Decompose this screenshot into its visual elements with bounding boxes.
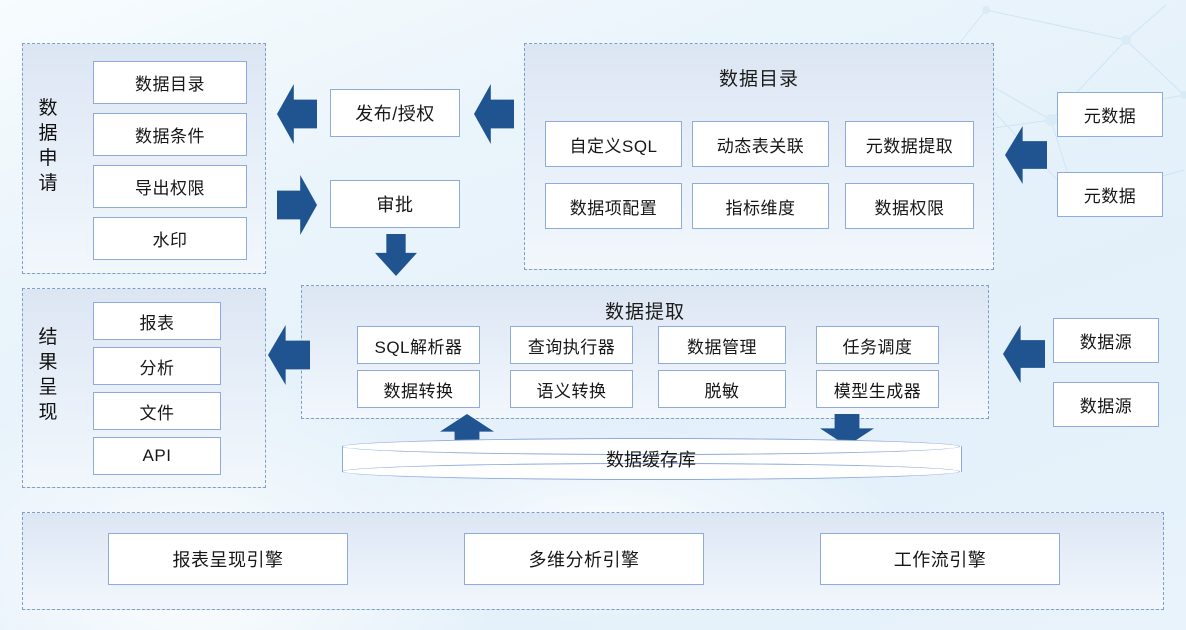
data-application-item-2[interactable]: 导出权限 bbox=[93, 165, 247, 208]
arrow-datasource-to-extraction bbox=[1003, 325, 1045, 383]
data-extraction-panel: 数据提取 SQL解析器 查询执行器 数据管理 任务调度 数据转换 语义转换 脱敏… bbox=[301, 285, 989, 419]
catalog-item-1[interactable]: 动态表关联 bbox=[692, 121, 829, 167]
data-application-item-1[interactable]: 数据条件 bbox=[93, 113, 247, 156]
catalog-item-4[interactable]: 指标维度 bbox=[692, 183, 829, 229]
arrow-catalog-to-publish bbox=[474, 84, 514, 144]
metadata-box-1[interactable]: 元数据 bbox=[1057, 172, 1163, 217]
result-presentation-caption: 结果呈现 bbox=[35, 325, 61, 425]
arrow-application-to-approve bbox=[277, 175, 317, 235]
extraction-item-7[interactable]: 模型生成器 bbox=[816, 370, 939, 408]
data-application-item-0[interactable]: 数据目录 bbox=[93, 61, 247, 104]
extraction-item-5[interactable]: 语义转换 bbox=[510, 370, 633, 408]
arrow-approve-to-extraction bbox=[375, 234, 417, 276]
result-item-2[interactable]: 文件 bbox=[93, 392, 221, 430]
catalog-item-2[interactable]: 元数据提取 bbox=[845, 121, 974, 167]
arrow-publish-to-application bbox=[277, 84, 317, 144]
extraction-item-2[interactable]: 数据管理 bbox=[658, 326, 786, 364]
result-item-1[interactable]: 分析 bbox=[93, 347, 221, 385]
publish-authorize-box[interactable]: 发布/授权 bbox=[330, 89, 460, 137]
data-catalog-title: 数据目录 bbox=[525, 64, 993, 91]
result-presentation-panel: 结果呈现 报表 分析 文件 API bbox=[22, 288, 266, 488]
datasource-box-1[interactable]: 数据源 bbox=[1053, 382, 1159, 427]
catalog-item-0[interactable]: 自定义SQL bbox=[545, 121, 682, 167]
engine-item-2[interactable]: 工作流引擎 bbox=[820, 533, 1060, 585]
engine-panel: 报表呈现引擎 多维分析引擎 工作流引擎 bbox=[22, 512, 1164, 610]
catalog-item-5[interactable]: 数据权限 bbox=[845, 183, 974, 229]
data-extraction-title: 数据提取 bbox=[302, 297, 988, 324]
data-cache-label: 数据缓存库 bbox=[606, 446, 696, 472]
extraction-item-4[interactable]: 数据转换 bbox=[357, 370, 480, 408]
extraction-item-0[interactable]: SQL解析器 bbox=[357, 326, 480, 364]
extraction-item-3[interactable]: 任务调度 bbox=[816, 326, 939, 364]
data-catalog-panel: 数据目录 自定义SQL 动态表关联 元数据提取 数据项配置 指标维度 数据权限 bbox=[524, 43, 994, 270]
engine-item-0[interactable]: 报表呈现引擎 bbox=[108, 533, 348, 585]
data-application-item-3[interactable]: 水印 bbox=[93, 217, 247, 260]
data-application-caption: 数据申请 bbox=[35, 96, 61, 196]
extraction-item-1[interactable]: 查询执行器 bbox=[510, 326, 633, 364]
datasource-box-0[interactable]: 数据源 bbox=[1053, 318, 1159, 363]
diagram-canvas: 数据申请 数据目录 数据条件 导出权限 水印 结果呈现 报表 分析 文件 API… bbox=[0, 0, 1186, 630]
data-cache-store: 数据缓存库 bbox=[342, 438, 960, 480]
extraction-item-6[interactable]: 脱敏 bbox=[658, 370, 786, 408]
result-item-3[interactable]: API bbox=[93, 437, 221, 475]
engine-item-1[interactable]: 多维分析引擎 bbox=[464, 533, 704, 585]
data-application-panel: 数据申请 数据目录 数据条件 导出权限 水印 bbox=[22, 43, 266, 274]
approve-box[interactable]: 审批 bbox=[330, 180, 460, 228]
catalog-item-3[interactable]: 数据项配置 bbox=[545, 183, 682, 229]
result-item-0[interactable]: 报表 bbox=[93, 302, 221, 340]
arrow-metadata-to-catalog bbox=[1005, 126, 1047, 184]
metadata-box-0[interactable]: 元数据 bbox=[1057, 92, 1163, 137]
